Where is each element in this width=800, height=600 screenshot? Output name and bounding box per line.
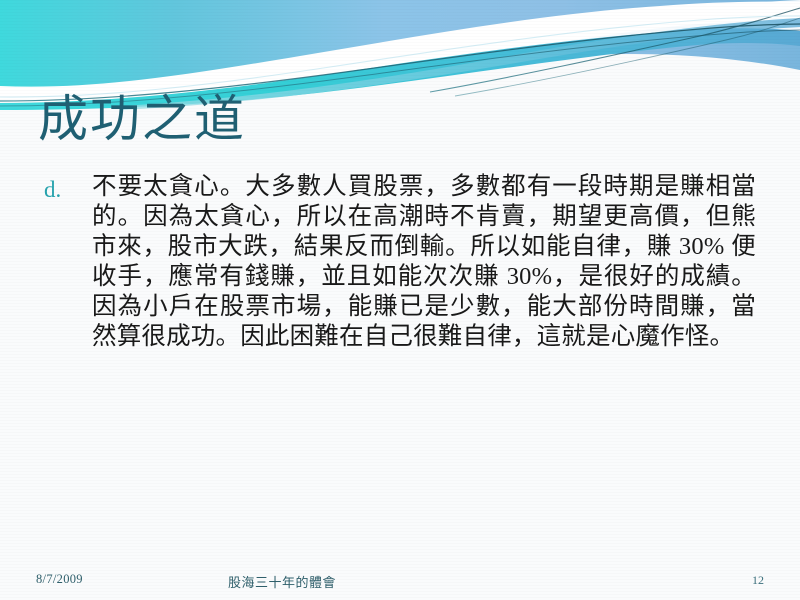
body-list-item: d. 不要太貪心。大多數人買股票，多數都有一段時期是賺相當的。因為太貪心，所以在…	[44, 172, 756, 352]
page-title: 成功之道	[38, 92, 246, 147]
presentation-slide: 成功之道 d. 不要太貪心。大多數人買股票，多數都有一段時期是賺相當的。因為太貪…	[0, 0, 800, 600]
slide-number: 12	[752, 573, 764, 588]
footer-date: 8/7/2009	[36, 572, 83, 587]
footer-title: 股海三十年的體會	[228, 572, 336, 591]
slide-footer: 8/7/2009 股海三十年的體會 12	[0, 564, 800, 600]
list-item-marker: d.	[44, 172, 92, 205]
list-item-text: 不要太貪心。大多數人買股票，多數都有一段時期是賺相當的。因為太貪心，所以在高潮時…	[92, 172, 756, 352]
